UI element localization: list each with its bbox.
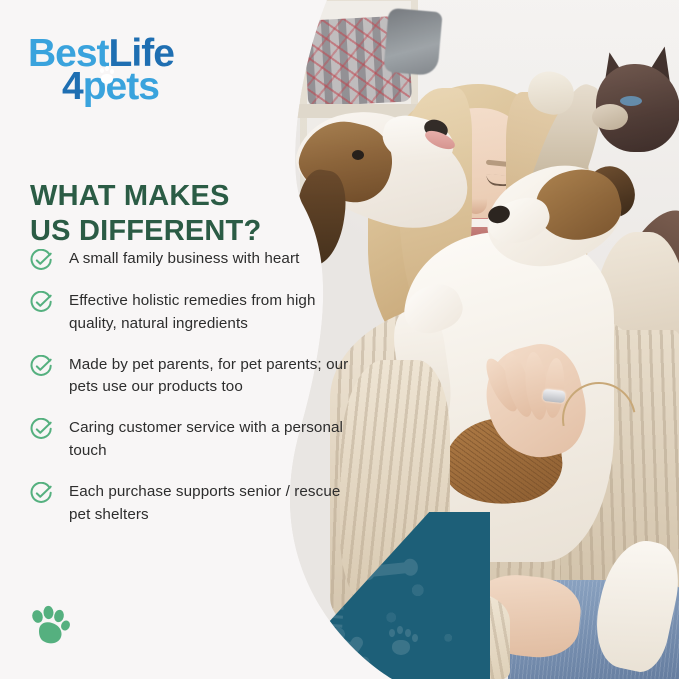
check-circle-icon [30, 291, 53, 314]
paw-print-icon [26, 604, 70, 646]
check-circle-icon [30, 355, 53, 378]
logo-pets-label: pets [83, 65, 159, 108]
list-item-label: Made by pet parents, for pet parents; ou… [69, 354, 354, 400]
cat-eye [620, 96, 642, 106]
list-item: Made by pet parents, for pet parents; ou… [30, 354, 360, 400]
logo-line-two: 4pets [62, 71, 174, 104]
list-item: Each purchase supports senior / rescue p… [30, 481, 360, 527]
text-panel: BestLife 4pets WHAT MAKES US DIFFERENT? … [0, 0, 330, 679]
list-item-label: Caring customer service with a personal … [69, 417, 354, 463]
check-circle-icon [30, 418, 53, 441]
benefits-list: A small family business with heart Effec… [30, 248, 360, 544]
page-title: WHAT MAKES US DIFFERENT? [30, 179, 310, 247]
list-item: Effective holistic remedies from high qu… [30, 290, 360, 336]
promo-image: BestLife 4pets WHAT MAKES US DIFFERENT? … [0, 0, 679, 679]
heading-line-one: WHAT MAKES [30, 180, 230, 212]
check-circle-icon [30, 249, 53, 272]
heart-icon [342, 636, 368, 662]
list-item: Caring customer service with a personal … [30, 417, 360, 463]
heading-line-two: US DIFFERENT? [30, 215, 261, 247]
logo-text-four: 4 [62, 65, 83, 108]
check-circle-icon [30, 482, 53, 505]
background-blanket-secondary [383, 8, 442, 76]
logo-text-pets: pets [83, 65, 159, 108]
licking-dog-eye [352, 150, 364, 160]
brand-logo: BestLife 4pets [28, 38, 174, 104]
woman-ring [542, 389, 565, 403]
paw-print-icon [101, 74, 113, 84]
list-item: A small family business with heart [30, 248, 360, 272]
list-item-label: Effective holistic remedies from high qu… [69, 290, 354, 336]
list-item-label: A small family business with heart [69, 248, 299, 271]
paw-print-icon [392, 640, 410, 655]
cat-muzzle [592, 104, 628, 130]
list-item-label: Each purchase supports senior / rescue p… [69, 481, 354, 527]
